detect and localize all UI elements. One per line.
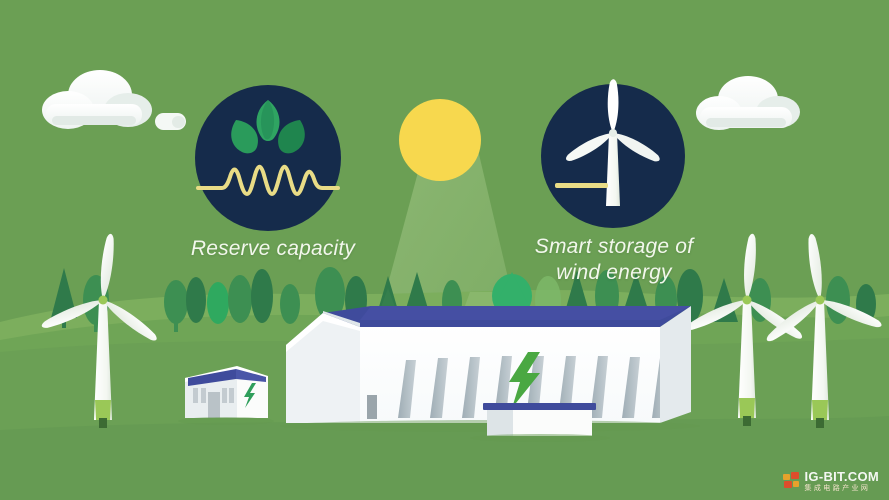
blocks-logo-icon xyxy=(783,472,801,490)
badges-layer xyxy=(0,0,889,500)
badge-label-reserve-capacity: Reserve capacity xyxy=(168,236,378,262)
watermark-subtitle: 集成电路产业网 xyxy=(805,485,880,492)
site-watermark: IG-BIT.COM 集成电路产业网 xyxy=(779,468,884,494)
badge-label-smart-storage: Smart storage of wind energy xyxy=(508,234,720,286)
watermark-text: IG-BIT.COM 集成电路产业网 xyxy=(805,470,880,492)
illustration-canvas: Reserve capacity Smart storage of wind e… xyxy=(0,0,889,500)
watermark-title: IG-BIT.COM xyxy=(805,470,880,483)
badge-reserve-capacity[interactable] xyxy=(195,85,341,231)
badge-smart-storage[interactable] xyxy=(541,79,685,228)
